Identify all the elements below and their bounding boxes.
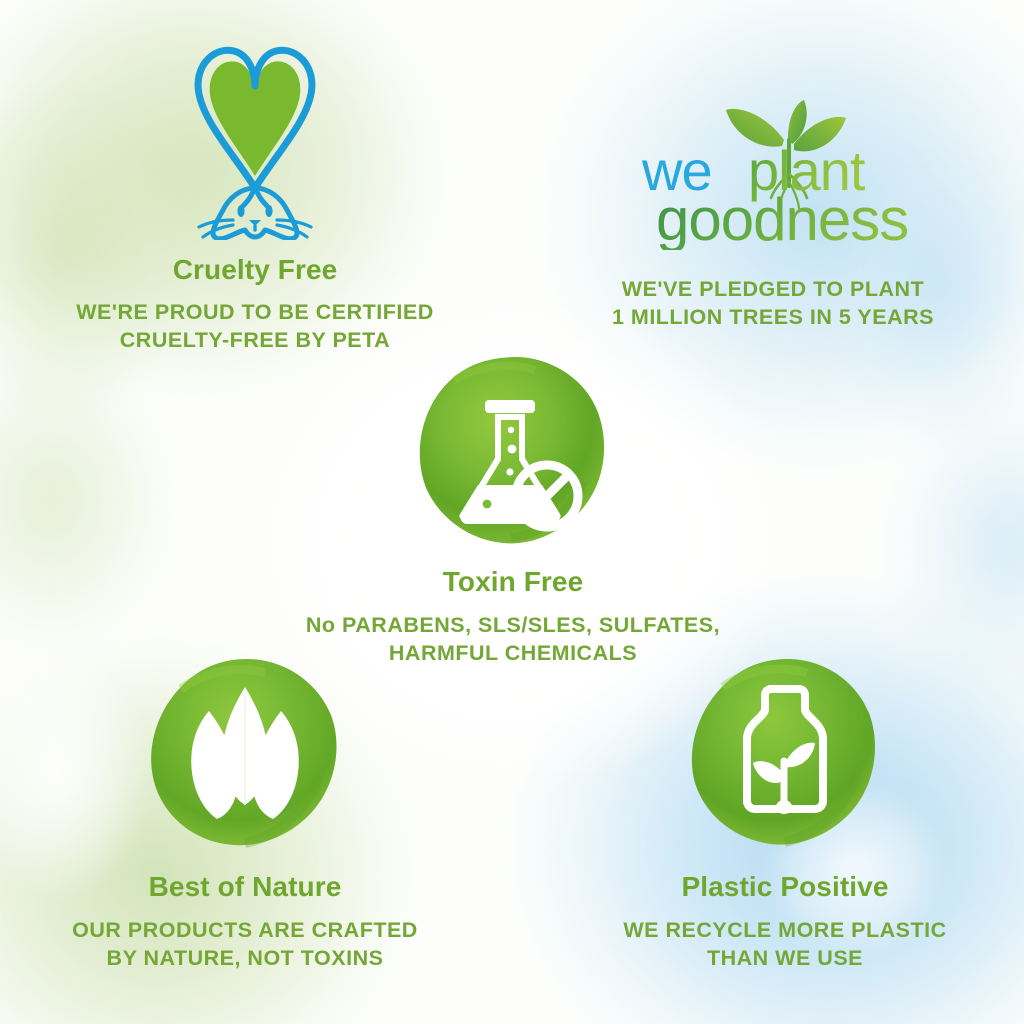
infographic-poster: Cruelty Free WE'RE PROUD TO BE CERTIFIED…	[0, 0, 1024, 1024]
watercolor-blob-plastic	[687, 655, 883, 851]
subtext-line: WE RECYCLE MORE PLASTIC	[560, 917, 1010, 945]
badge-heading-toxin-free: Toxin Free	[278, 566, 748, 598]
subtext-line: WE'RE PROUD TO BE CERTIFIED	[22, 299, 488, 327]
watercolor-wash-left	[0, 300, 200, 700]
badge-we-plant-goodness: we plant goodness WE'VE PLEDGED TO PLANT…	[540, 100, 1006, 331]
flask-no-toxins-icon	[278, 352, 748, 548]
bottle-sprout-icon	[560, 655, 1010, 851]
subtext-line: OUR PRODUCTS ARE CRAFTED	[20, 917, 470, 945]
badge-toxin-free: Toxin Free No PARABENS, SLS/SLES, SULFAT…	[278, 352, 748, 667]
svg-text:goodness: goodness	[656, 186, 908, 250]
badge-cruelty-free: Cruelty Free WE'RE PROUD TO BE CERTIFIED…	[22, 28, 488, 354]
badge-subtext-plastic-positive: WE RECYCLE MORE PLASTIC THAN WE USE	[560, 917, 1010, 972]
watercolor-blob-nature	[147, 655, 343, 851]
subtext-line: WE'VE PLEDGED TO PLANT	[540, 276, 1006, 304]
badge-heading-plastic-positive: Plastic Positive	[560, 871, 1010, 903]
badge-plastic-positive: Plastic Positive WE RECYCLE MORE PLASTIC…	[560, 655, 1010, 972]
subtext-line: THAN WE USE	[560, 945, 1010, 973]
subtext-line: No PARABENS, SLS/SLES, SULFATES,	[278, 612, 748, 640]
badge-subtext-best-of-nature: OUR PRODUCTS ARE CRAFTED BY NATURE, NOT …	[20, 917, 470, 972]
badge-heading-best-of-nature: Best of Nature	[20, 871, 470, 903]
badge-heading-cruelty-free: Cruelty Free	[22, 254, 488, 286]
subtext-line: BY NATURE, NOT TOXINS	[20, 945, 470, 973]
watercolor-blob-toxin	[415, 352, 611, 548]
peta-bunny-heart-icon	[22, 28, 488, 240]
subtext-line: 1 MILLION TREES IN 5 YEARS	[540, 304, 1006, 332]
badge-subtext-we-plant-goodness: WE'VE PLEDGED TO PLANT 1 MILLION TREES I…	[540, 276, 1006, 331]
subtext-line: CRUELTY-FREE BY PETA	[22, 327, 488, 355]
badge-best-of-nature: Best of Nature OUR PRODUCTS ARE CRAFTED …	[20, 655, 470, 972]
three-leaves-icon	[20, 655, 470, 851]
we-plant-goodness-logo: we plant goodness	[540, 100, 1006, 250]
badge-subtext-cruelty-free: WE'RE PROUD TO BE CERTIFIED CRUELTY-FREE…	[22, 299, 488, 354]
